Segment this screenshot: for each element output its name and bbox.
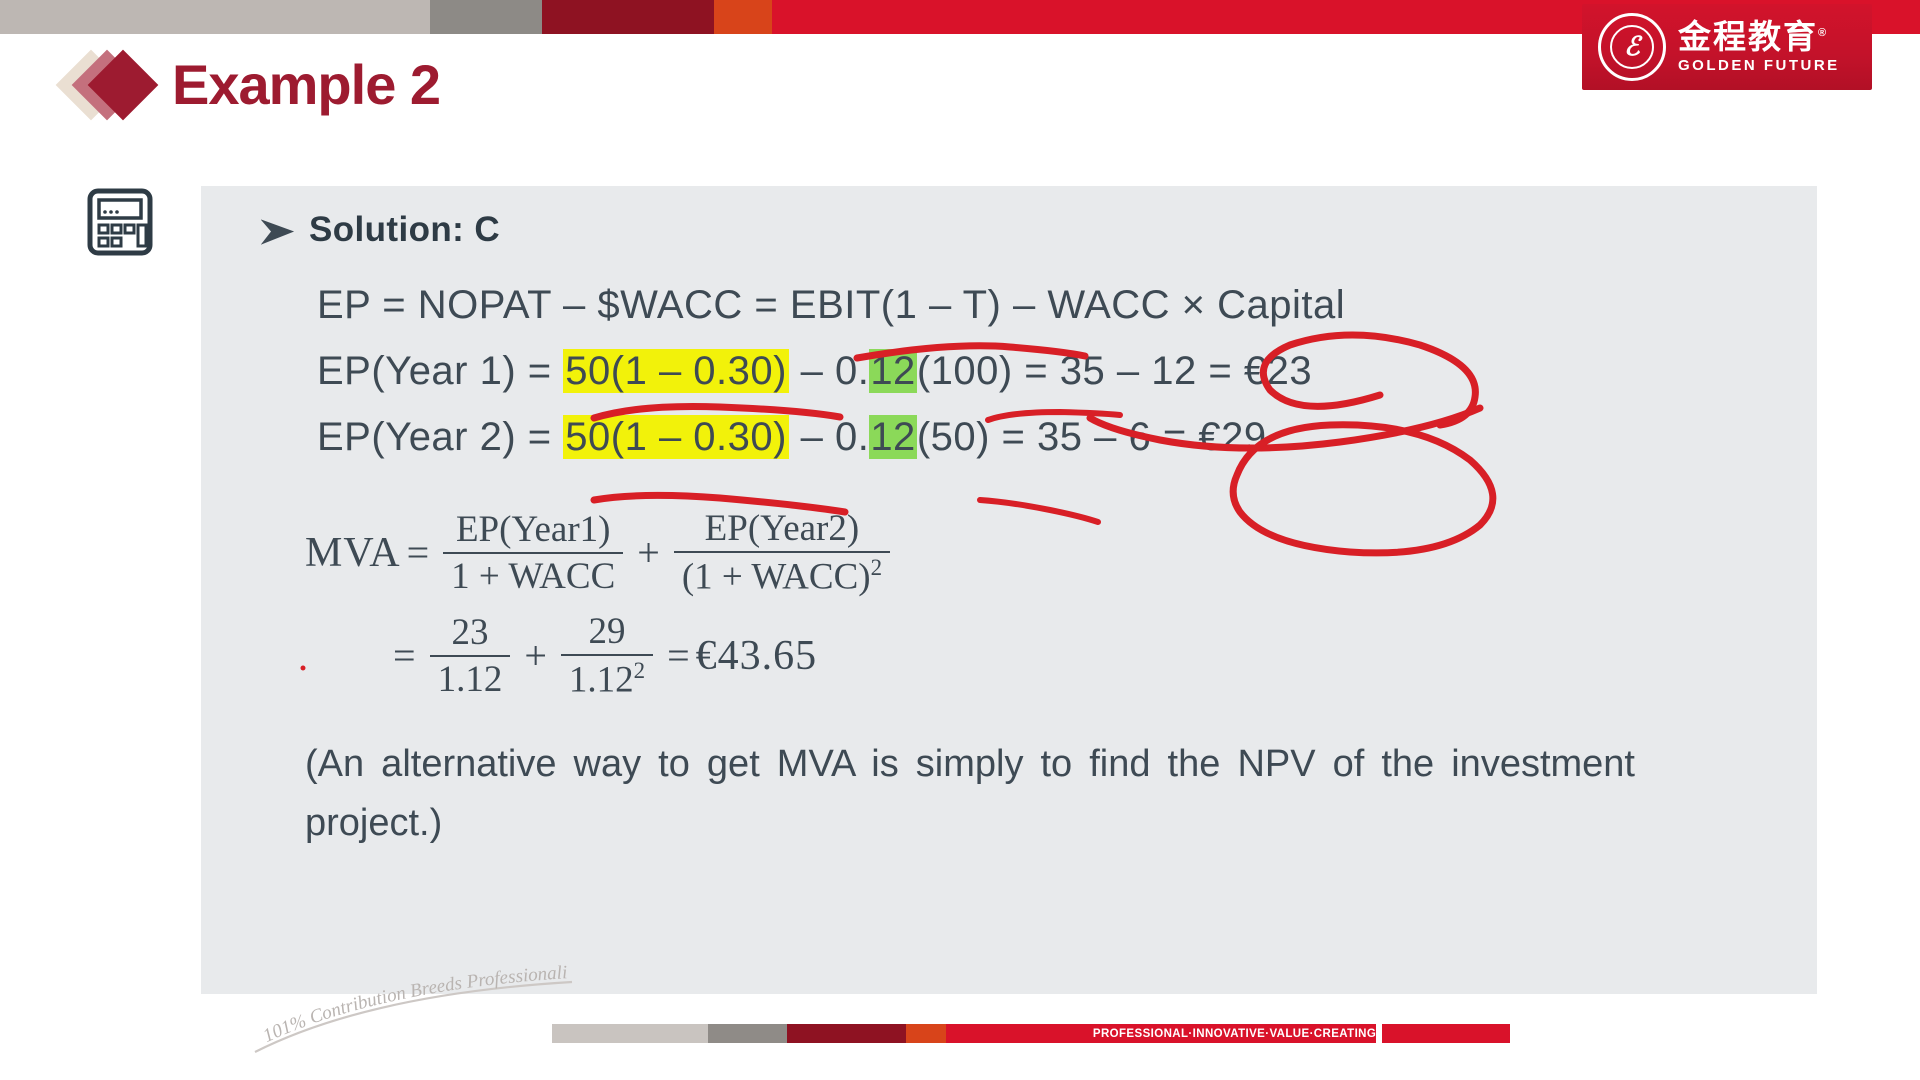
solution-content-panel: Solution: C EP = NOPAT – $WACC = EBIT(1 …: [201, 186, 1817, 994]
mva-term2-denominator-exponent: 2: [871, 555, 882, 580]
year1-highlight-green: 12: [869, 349, 917, 393]
year2-mid: – 0.: [789, 415, 869, 459]
mva-result-equals-sign: =: [667, 636, 690, 676]
mva-numeric-term2-numerator: 29: [580, 613, 633, 654]
mva-numeric-term2-denominator: 1.122: [561, 654, 653, 698]
year2-highlight-yellow: 50(1 – 0.30): [563, 415, 789, 459]
page-title: Example 2: [172, 57, 440, 113]
year1-mid: – 0.: [789, 349, 869, 393]
top-bar-segment-3: [714, 0, 772, 34]
mva-formula-row-numeric: = 23 1.12 + 29 1.122 = €43.65: [387, 613, 1779, 698]
footer-tagline: PROFESSIONAL·INNOVATIVE·VALUE·CREATING: [1093, 1024, 1376, 1043]
equation-line-definition: EP = NOPAT – $WACC = EBIT(1 – T) – WACC …: [317, 272, 1779, 338]
brand-monogram: ℰ: [1624, 34, 1640, 60]
page-title-row: Example 2: [66, 42, 440, 128]
mva-numeric-term1-fraction: 23 1.12: [430, 614, 511, 698]
equation-definition-text: EP = NOPAT – $WACC = EBIT(1 – T) – WACC …: [317, 283, 1345, 327]
mva-numeric-plus-sign: +: [524, 636, 547, 676]
footer-bar-segment-0: [552, 1024, 708, 1043]
footer-decorative-bar: PROFESSIONAL·INNOVATIVE·VALUE·CREATING: [552, 1024, 1510, 1043]
calculator-icon: [86, 188, 154, 256]
mva-term2-denominator-base: (1 + WACC): [682, 556, 871, 597]
brand-seal-icon: ℰ: [1598, 13, 1666, 81]
closing-paragraph: (An alternative way to get MVA is simply…: [305, 735, 1635, 912]
equation-line-year2: EP(Year 2) = 50(1 – 0.30) – 0.12(50) = 3…: [317, 404, 1779, 470]
mva-numeric-equals-sign: =: [393, 636, 416, 676]
mva-numeric-term1-numerator: 23: [443, 614, 496, 655]
mva-equals-sign: =: [407, 533, 430, 573]
top-bar-segment-2: [542, 0, 714, 34]
diamond-logo-icon: [66, 48, 162, 122]
footer-bar-segment-3: [906, 1024, 946, 1043]
mva-formula-row-symbolic: MVA = EP(Year1) 1 + WACC + EP(Year2) (1 …: [305, 510, 1779, 595]
brand-chinese-name: 金程教育®: [1678, 20, 1840, 55]
mva-numeric-term2-denominator-exponent: 2: [634, 658, 645, 683]
arrow-bullet-icon: [261, 217, 295, 247]
registered-mark-icon: ®: [1818, 27, 1828, 39]
year1-highlight-yellow: 50(1 – 0.30): [563, 349, 789, 393]
mva-result-value: €43.65: [696, 635, 818, 677]
footer-bar-segment-4: [946, 1024, 1093, 1043]
mva-term2-numerator: EP(Year2): [697, 510, 868, 551]
footer-bar-segment-2: [787, 1024, 906, 1043]
top-bar-segment-0: [0, 0, 430, 34]
mva-term2-fraction: EP(Year2) (1 + WACC)2: [674, 510, 890, 595]
brand-logo: ℰ 金程教育® GOLDEN FUTURE: [1582, 4, 1872, 90]
mva-numeric-term1-denominator: 1.12: [430, 655, 511, 698]
year2-prefix: EP(Year 2) =: [317, 415, 563, 459]
mva-formula-block: MVA = EP(Year1) 1 + WACC + EP(Year2) (1 …: [305, 510, 1779, 699]
mva-numeric-term2-denominator-base: 1.12: [569, 660, 634, 701]
brand-english-name: GOLDEN FUTURE: [1678, 57, 1840, 74]
mva-term1-numerator: EP(Year1): [448, 511, 619, 552]
brand-text-group: 金程教育® GOLDEN FUTURE: [1678, 20, 1840, 74]
year2-suffix: (50) = 35 – 6 = €29: [917, 415, 1267, 459]
year1-prefix: EP(Year 1) =: [317, 349, 563, 393]
footer-bar-tail-segment: [1382, 1024, 1510, 1043]
equation-line-year1: EP(Year 1) = 50(1 – 0.30) – 0.12(100) = …: [317, 338, 1779, 404]
brand-chinese-chars: 金程教育: [1678, 18, 1818, 55]
solution-heading-row: Solution: C: [261, 210, 1779, 250]
solution-label: Solution: C: [309, 210, 500, 250]
year1-suffix: (100) = 35 – 12 = €23: [917, 349, 1312, 393]
equations-group: EP = NOPAT – $WACC = EBIT(1 – T) – WACC …: [317, 272, 1779, 470]
mva-term1-fraction: EP(Year1) 1 + WACC: [443, 511, 623, 595]
mva-label: MVA: [305, 532, 401, 574]
mva-term2-denominator: (1 + WACC)2: [674, 551, 890, 595]
year2-highlight-green: 12: [869, 415, 917, 459]
mva-plus-sign: +: [637, 533, 660, 573]
footer-bar-segment-1: [708, 1024, 787, 1043]
mva-term1-denominator: 1 + WACC: [443, 552, 623, 595]
top-bar-segment-1: [430, 0, 542, 34]
mva-numeric-term2-fraction: 29 1.122: [561, 613, 653, 698]
